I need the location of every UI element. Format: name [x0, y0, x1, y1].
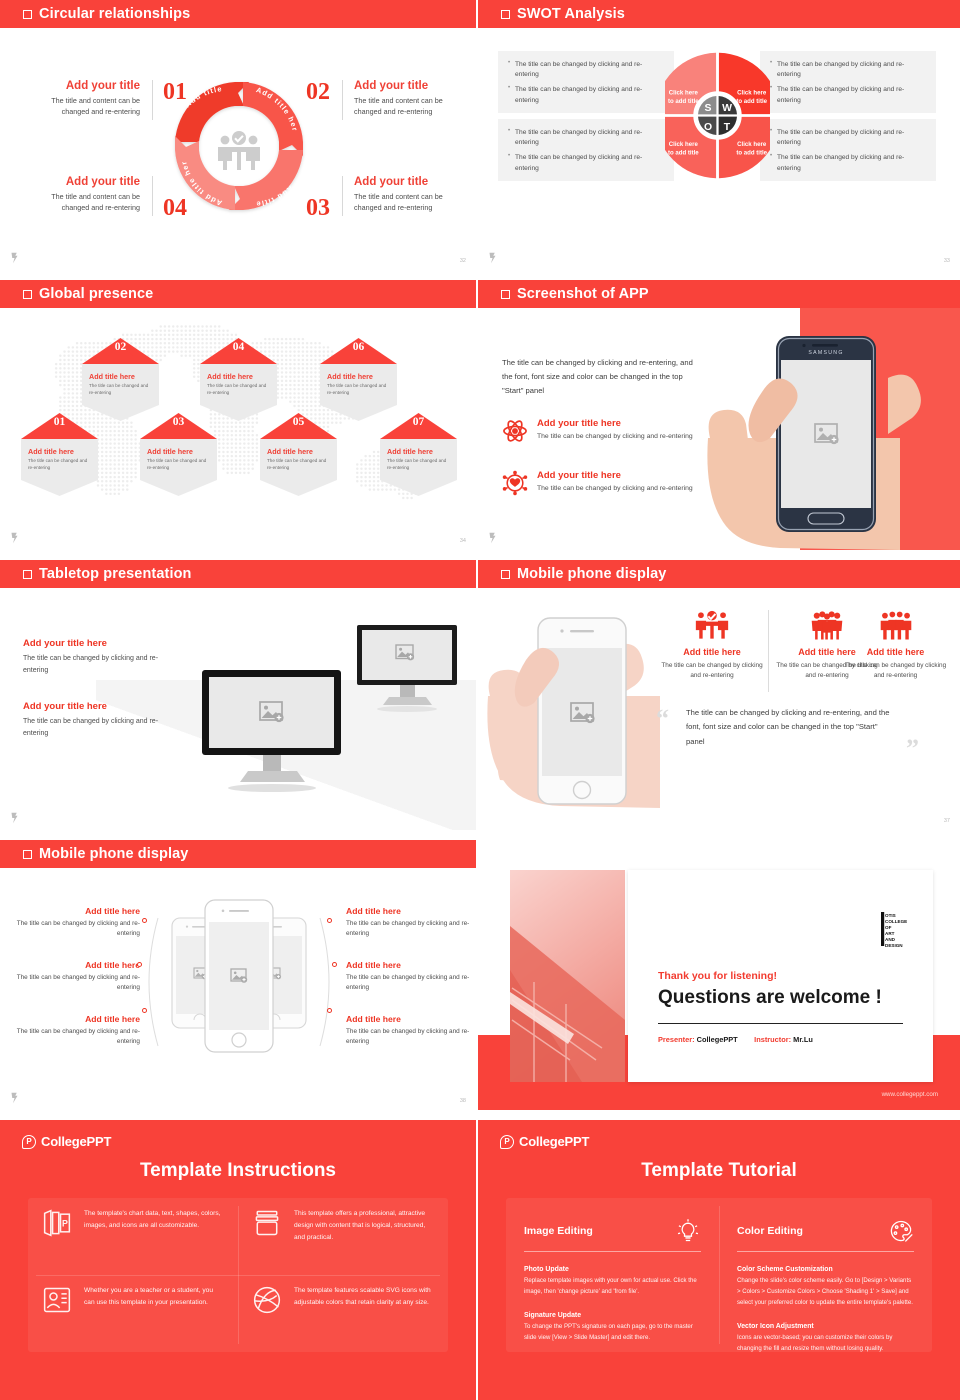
connector-dot	[327, 918, 332, 923]
phone-device: SAMSUNG	[776, 336, 876, 532]
swot-letter-t: T	[724, 122, 731, 133]
bullet: The title can be changed by clicking and…	[770, 153, 926, 173]
card-desc: The title can be changed and re-entering	[327, 383, 390, 397]
bullet: The title can be changed by clicking and…	[508, 60, 664, 80]
svg-text:COLLEGE: COLLEGE	[885, 919, 907, 924]
page-number: 38	[460, 1098, 466, 1104]
swot-cell-strengths[interactable]: The title can be changed by clicking and…	[498, 51, 674, 113]
swot-letter-w: W	[722, 103, 732, 114]
item-title: Add title here	[346, 906, 476, 916]
collegeppt-mark-icon: P	[22, 1135, 36, 1149]
section-subtitle: Color Scheme Customization	[737, 1266, 914, 1273]
item-desc: The title can be changed by clicking and…	[10, 1027, 140, 1048]
presenter-value: CollegePPT	[697, 1035, 738, 1044]
atom-icon	[502, 418, 528, 444]
palette-icon	[888, 1218, 914, 1244]
card-desc: The title can be changed and re-entering	[89, 383, 152, 397]
square-bullet-icon	[501, 290, 510, 299]
page-number: 34	[460, 538, 466, 544]
instructions-panel: P The template's chart data, text, shape…	[28, 1198, 448, 1352]
signature-mark-icon	[10, 531, 19, 545]
feature-desc: The title can be changed by clicking and…	[537, 484, 693, 495]
thank-you-card: OTIS COLLEGE OF ART AND DESIGN Thank you…	[628, 870, 933, 1082]
slide-circular-relationships[interactable]: Circular relationships	[0, 0, 476, 270]
team-row-icon	[879, 610, 913, 640]
page-title: SWOT Analysis	[517, 6, 625, 22]
item-desc: The title can be changed by clicking and…	[23, 653, 183, 677]
item-title: Add title here	[10, 1014, 140, 1024]
column-heading: Image Editing	[524, 1225, 593, 1237]
intro-paragraph: The title can be changed by clicking and…	[502, 356, 702, 398]
svg-text:DESIGN: DESIGN	[885, 943, 903, 948]
slide-screenshot-of-app[interactable]: Screenshot of APP The title can be chang…	[478, 280, 960, 550]
circular-item-01[interactable]: Add your title The title and content can…	[22, 80, 140, 117]
instruction-cell-1[interactable]: P The template's chart data, text, shape…	[28, 1198, 238, 1275]
svg-text:AND: AND	[885, 937, 896, 942]
global-card-04[interactable]: 04 Add title here The title can be chang…	[200, 338, 277, 421]
global-card-02[interactable]: 02 Add title here The title can be chang…	[82, 338, 159, 421]
square-bullet-icon	[23, 570, 32, 579]
svg-text:P: P	[62, 1219, 68, 1229]
item-title: Add your title	[22, 80, 140, 92]
bullet: The title can be changed by clicking and…	[508, 153, 664, 173]
square-bullet-icon	[501, 10, 510, 19]
pie-label-3: Click here	[669, 141, 699, 148]
tutorial-column-image-editing[interactable]: Image Editing Photo Update Replace templ…	[506, 1198, 719, 1352]
svg-text:ART: ART	[885, 931, 895, 936]
page-number: 33	[944, 258, 950, 264]
section-body: Icons are vector-based; you can customiz…	[737, 1333, 914, 1355]
phone-device	[538, 618, 626, 804]
iphone-in-hand	[486, 600, 661, 830]
thank-you-headline: Questions are welcome !	[658, 987, 882, 1009]
item-desc: The title and content can be changed and…	[354, 191, 472, 213]
instructor-label: Instructor:	[754, 1035, 791, 1044]
instruction-text: The template's chart data, text, shapes,…	[84, 1208, 224, 1265]
column-title: Add title here	[658, 647, 766, 657]
pie-label-1: Click here	[669, 90, 699, 97]
slide-header-bar: Mobile phone display	[0, 840, 476, 868]
item-number-04: 04	[163, 196, 187, 220]
pie-label-2: Click here	[737, 90, 767, 97]
page-title: Global presence	[39, 286, 153, 302]
item-title: Add your title here	[23, 701, 183, 712]
bullet: The title can be changed by clicking and…	[770, 85, 926, 105]
item-desc: The title can be changed by clicking and…	[23, 716, 183, 740]
global-card-05[interactable]: 05 Add title here The title can be chang…	[260, 413, 337, 496]
item-desc: The title and content can be changed and…	[354, 95, 472, 117]
page-title: Mobile phone display	[517, 566, 666, 582]
website-url: www.collegeppt.com	[882, 1091, 938, 1098]
card-desc: The title can be changed and re-entering	[207, 383, 270, 397]
brand-logo: P CollegePPT	[500, 1134, 589, 1149]
slide-header-bar: Global presence	[0, 280, 476, 308]
mobile2-right-item-1[interactable]: Add title here The title can be changed …	[346, 906, 476, 940]
divider	[658, 1023, 903, 1024]
divider	[152, 80, 153, 120]
slide-tabletop-presentation[interactable]: Tabletop presentation Add your title her…	[0, 560, 476, 830]
card-title: Add title here	[327, 372, 390, 381]
item-title: Add title here	[10, 960, 140, 970]
photo-artwork	[510, 870, 625, 1082]
slide-header-bar: Screenshot of APP	[478, 280, 960, 308]
card-desc: The title can be changed and re-entering	[147, 458, 210, 472]
signature-mark-icon	[488, 251, 497, 265]
swot-pie-diagram: S W O T Click here to add title Click he…	[665, 49, 770, 182]
signature-mark-icon	[10, 251, 19, 265]
monitor-large	[200, 668, 345, 798]
mobile2-left-item-3[interactable]: Add title here The title can be changed …	[10, 1014, 140, 1048]
divider	[342, 80, 343, 120]
signature-mark-icon	[10, 1091, 19, 1105]
card-number: 03	[140, 416, 217, 428]
circular-item-04[interactable]: Add your title The title and content can…	[22, 176, 140, 213]
app-feature-1[interactable]: Add your title here The title can be cha…	[502, 418, 722, 444]
page-title: Tabletop presentation	[39, 566, 191, 582]
slide-swot-analysis[interactable]: SWOT Analysis The title can be changed b…	[478, 0, 960, 270]
item-title: Add your title here	[23, 638, 183, 649]
presenter-label: Presenter:	[658, 1035, 695, 1044]
item-desc: The title can be changed by clicking and…	[346, 973, 476, 994]
quote-close-icon: ”	[906, 736, 919, 762]
bullet: The title can be changed by clicking and…	[770, 128, 926, 148]
app-feature-2[interactable]: Add your title here The title can be cha…	[502, 470, 722, 496]
archive-box-icon	[252, 1208, 282, 1238]
dribbble-ball-icon	[252, 1285, 282, 1315]
card-desc: The title can be changed and re-entering	[28, 458, 91, 472]
slide-header-bar: SWOT Analysis	[478, 0, 960, 28]
network-heart-icon	[502, 470, 528, 496]
item-desc: The title and content can be changed and…	[22, 191, 140, 213]
item-number-01: 01	[163, 80, 187, 104]
phone-center	[205, 900, 273, 1052]
circular-diagram: Add title here Add title here Add title …	[0, 28, 476, 270]
item-title: Add title here	[10, 906, 140, 916]
item-desc: The title can be changed by clicking and…	[10, 973, 140, 994]
slide-header-bar: Tabletop presentation	[0, 560, 476, 588]
global-card-07[interactable]: 07 Add title here The title can be chang…	[380, 413, 457, 496]
section-body: To change the PPT's signature on each pa…	[524, 1322, 701, 1344]
quote-open-icon: “	[656, 706, 669, 732]
team-check-icon	[695, 610, 729, 640]
connector-dot	[142, 918, 147, 923]
instructor-value: Mr.Lu	[793, 1035, 813, 1044]
circular-item-02[interactable]: Add your title The title and content can…	[354, 80, 472, 117]
connector-dot	[137, 962, 142, 967]
slide-deck-grid: Circular relationships	[0, 0, 960, 1400]
collegeppt-mark-icon: P	[500, 1135, 514, 1149]
card-number: 02	[82, 341, 159, 353]
feature-desc: The title can be changed by clicking and…	[537, 432, 693, 443]
item-desc: The title can be changed by clicking and…	[10, 919, 140, 940]
column-desc: The title can be changed by clicking and…	[658, 661, 766, 682]
mobile1-column-3[interactable]: Add title here The title can be changed …	[843, 610, 948, 682]
section-subtitle: Signature Update	[524, 1312, 701, 1319]
slide-thank-you[interactable]: OTIS COLLEGE OF ART AND DESIGN Thank you…	[478, 840, 960, 1110]
card-number: 05	[260, 416, 337, 428]
card-number: 06	[320, 341, 397, 353]
divider	[152, 176, 153, 216]
svg-text:to add title: to add title	[668, 149, 699, 156]
section-subtitle: Photo Update	[524, 1266, 701, 1273]
brand-name: CollegePPT	[519, 1134, 589, 1149]
slides-p-icon: P	[42, 1208, 72, 1238]
slide-template-tutorial[interactable]: P CollegePPT Template Tutorial Image Edi…	[478, 1120, 960, 1400]
phone-brand-label: SAMSUNG	[808, 350, 843, 356]
tutorial-panel: Image Editing Photo Update Replace templ…	[506, 1198, 932, 1352]
svg-text:to add title: to add title	[668, 98, 699, 105]
instruction-text: Whether you are a teacher or a student, …	[84, 1285, 224, 1342]
card-title: Add title here	[28, 447, 91, 456]
card-title: Add title here	[207, 372, 270, 381]
architecture-photo	[510, 870, 625, 1082]
item-title: Add your title	[354, 176, 472, 188]
tabletop-item-2[interactable]: Add your title here The title can be cha…	[23, 701, 183, 740]
item-title: Add your title	[354, 80, 472, 92]
instruction-text: This template offers a professional, att…	[294, 1208, 434, 1265]
card-title: Add title here	[387, 447, 450, 456]
svg-text:to add title: to add title	[736, 98, 767, 105]
item-desc: The title can be changed by clicking and…	[346, 1027, 476, 1048]
svg-text:OTIS: OTIS	[885, 913, 896, 918]
section-body: Change the slide's color scheme easily. …	[737, 1276, 914, 1309]
card-title: Add title here	[267, 447, 330, 456]
slide-mobile-phone-display-2[interactable]: Mobile phone display	[0, 840, 476, 1110]
swot-letter-s: S	[705, 103, 712, 114]
card-desc: The title can be changed and re-entering	[387, 458, 450, 472]
swot-cell-weaknesses[interactable]: The title can be changed by clicking and…	[760, 51, 936, 113]
otis-college-logo: OTIS COLLEGE OF ART AND DESIGN	[881, 912, 907, 952]
presenter-meta: Presenter: CollegePPT Instructor: Mr.Lu	[658, 1035, 813, 1044]
square-bullet-icon	[23, 290, 32, 299]
mobile2-left-item-1[interactable]: Add title here The title can be changed …	[10, 906, 140, 940]
slide-mobile-phone-display-1[interactable]: Mobile phone display	[478, 560, 960, 830]
feature-title: Add your title here	[537, 470, 693, 481]
card-desc: The title can be changed and re-entering	[267, 458, 330, 472]
tutorial-column-color-editing[interactable]: Color Editing Color Scheme Customization	[719, 1198, 932, 1352]
mobile2-left-item-2[interactable]: Add title here The title can be changed …	[10, 960, 140, 994]
divider	[768, 610, 769, 692]
section-body: Replace template images with your own fo…	[524, 1276, 701, 1298]
item-number-02: 02	[306, 80, 330, 104]
monitor-small	[355, 623, 460, 713]
mobile2-right-item-2[interactable]: Add title here The title can be changed …	[346, 960, 476, 994]
presenter-card-icon	[42, 1285, 72, 1315]
instruction-text: The template features scalable SVG icons…	[294, 1285, 434, 1342]
pie-label-4: Click here	[737, 141, 767, 148]
slide-header-bar: Circular relationships	[0, 0, 476, 28]
global-card-03[interactable]: 03 Add title here The title can be chang…	[140, 413, 217, 496]
page-title: Mobile phone display	[39, 846, 188, 862]
heading-underline	[737, 1251, 914, 1252]
bullet: The title can be changed by clicking and…	[508, 128, 664, 148]
instruction-cell-2[interactable]: This template offers a professional, att…	[238, 1198, 448, 1275]
page-number: 32	[460, 258, 466, 264]
column-title: Add title here	[843, 647, 948, 657]
item-title: Add title here	[346, 960, 476, 970]
signature-mark-icon	[10, 811, 19, 825]
page-title: Template Tutorial	[478, 1160, 960, 1182]
mobile1-column-1[interactable]: Add title here The title can be changed …	[658, 610, 766, 682]
quote-text: The title can be changed by clicking and…	[686, 706, 891, 749]
instruction-cell-3[interactable]: Whether you are a teacher or a student, …	[28, 1275, 238, 1352]
global-card-06[interactable]: 06 Add title here The title can be chang…	[320, 338, 397, 421]
square-bullet-icon	[23, 850, 32, 859]
signature-mark-icon	[488, 531, 497, 545]
three-phones-group	[130, 892, 348, 1072]
item-number-03: 03	[306, 196, 330, 220]
global-card-01[interactable]: 01 Add title here The title can be chang…	[21, 413, 98, 496]
column-desc: The title can be changed by clicking and…	[843, 661, 948, 682]
svg-text:to add title: to add title	[736, 149, 767, 156]
item-title: Add your title	[22, 176, 140, 188]
connector-dot	[142, 1008, 147, 1013]
slide-header-bar: Mobile phone display	[478, 560, 960, 588]
swot-cell-opportunities[interactable]: The title can be changed by clicking and…	[498, 119, 674, 181]
thank-you-subtitle: Thank you for listening!	[658, 970, 777, 982]
item-title: Add title here	[346, 1014, 476, 1024]
tabletop-item-1[interactable]: Add your title here The title can be cha…	[23, 638, 183, 677]
square-bullet-icon	[501, 570, 510, 579]
bullet: The title can be changed by clicking and…	[508, 85, 664, 105]
page-title: Template Instructions	[0, 1160, 476, 1182]
card-number: 01	[21, 416, 98, 428]
card-number: 07	[380, 416, 457, 428]
instruction-cell-4[interactable]: The template features scalable SVG icons…	[238, 1275, 448, 1352]
brand-logo: P CollegePPT	[22, 1134, 111, 1149]
team-icon	[218, 131, 260, 170]
slide-global-presence[interactable]: Global presence 02 Add title	[0, 280, 476, 550]
page-number: 37	[944, 818, 950, 824]
square-bullet-icon	[23, 10, 32, 19]
heading-underline	[524, 1251, 701, 1252]
people-group-icon	[810, 610, 844, 640]
card-number: 04	[200, 341, 277, 353]
section-subtitle: Vector Icon Adjustment	[737, 1323, 914, 1330]
swot-letter-o: O	[704, 122, 712, 133]
swot-cell-threats[interactable]: The title can be changed by clicking and…	[760, 119, 936, 181]
divider	[342, 176, 343, 216]
card-title: Add title here	[89, 372, 152, 381]
lightbulb-icon	[675, 1218, 701, 1244]
brand-name: CollegePPT	[41, 1134, 111, 1149]
connector-dot	[332, 962, 337, 967]
card-title: Add title here	[147, 447, 210, 456]
page-title: Circular relationships	[39, 6, 190, 22]
feature-title: Add your title here	[537, 418, 693, 429]
column-heading: Color Editing	[737, 1225, 803, 1237]
item-desc: The title and content can be changed and…	[22, 95, 140, 117]
connector-dot	[327, 1008, 332, 1013]
bullet: The title can be changed by clicking and…	[770, 60, 926, 80]
samsung-phone-in-hand: SAMSUNG	[700, 318, 960, 550]
slide-template-instructions[interactable]: P CollegePPT Template Instructions P	[0, 1120, 476, 1400]
circular-item-03[interactable]: Add your title The title and content can…	[354, 176, 472, 213]
item-desc: The title can be changed by clicking and…	[346, 919, 476, 940]
page-title: Screenshot of APP	[517, 286, 649, 302]
mobile2-right-item-3[interactable]: Add title here The title can be changed …	[346, 1014, 476, 1048]
svg-text:OF: OF	[885, 925, 892, 930]
